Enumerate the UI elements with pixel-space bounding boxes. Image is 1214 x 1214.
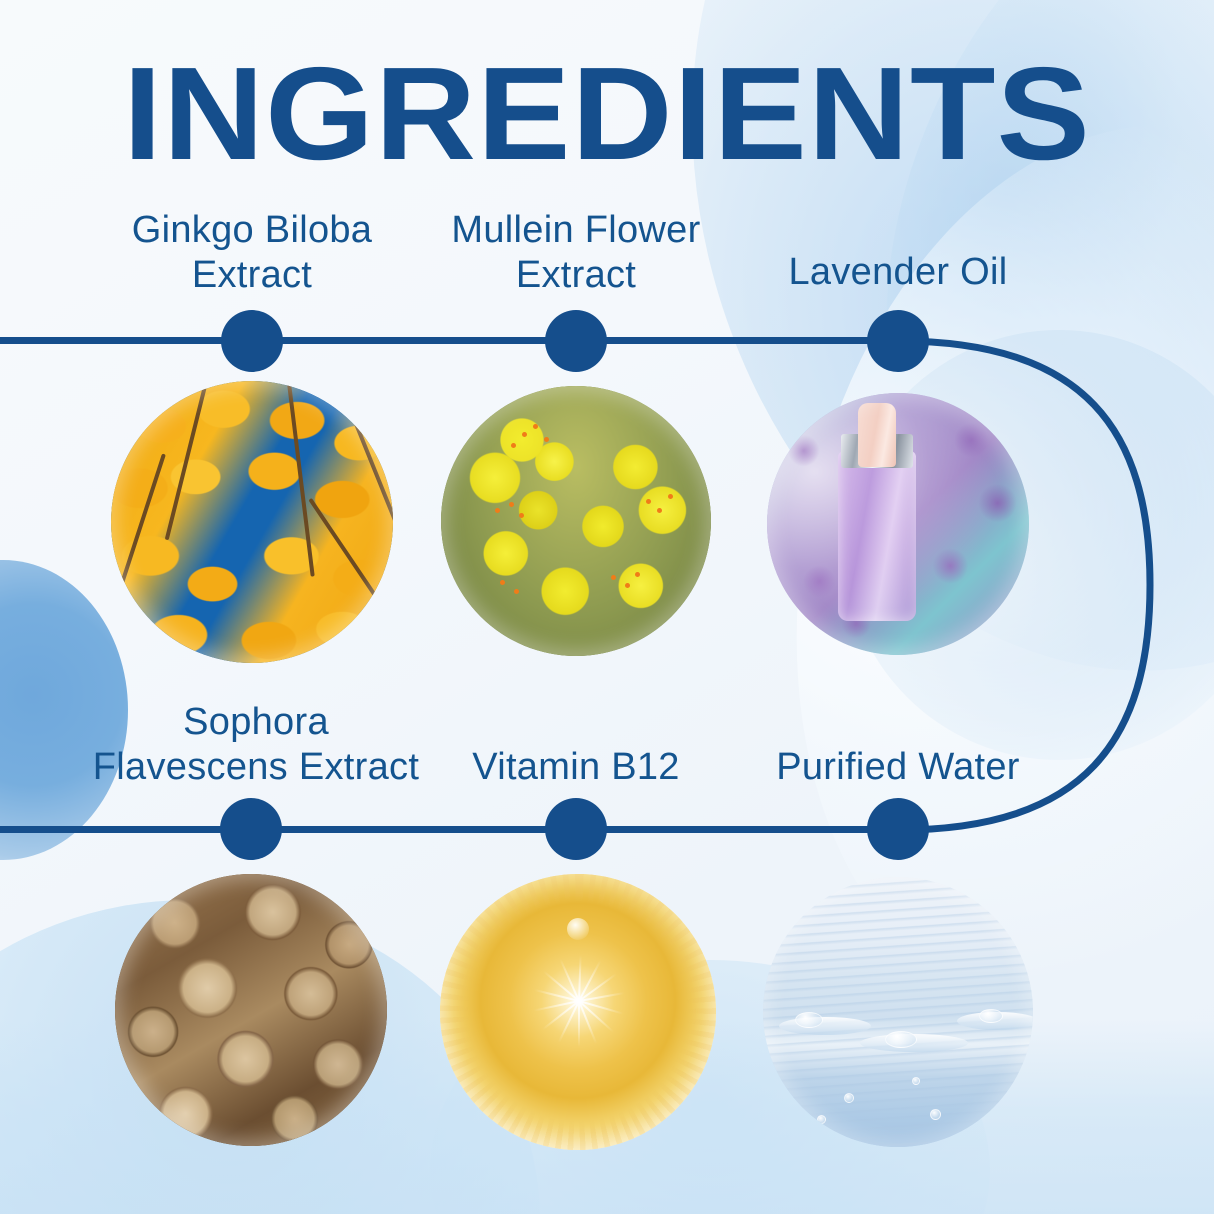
timeline-dot-purified-water[interactable]	[867, 798, 929, 860]
label-lavender-oil: Lavender Oil	[738, 250, 1058, 295]
timeline-dot-mullein-flower-extract[interactable]	[545, 310, 607, 372]
label-purified-water: Purified Water	[728, 745, 1068, 790]
photo-golden-serum-drop	[440, 874, 716, 1150]
label-ginkgo-biloba-extract: Ginkgo Biloba Extract	[87, 208, 417, 298]
label-vitamin-b12: Vitamin B12	[411, 745, 741, 790]
photo-mullein-flower	[441, 386, 711, 656]
photo-sophora-root-slices	[115, 874, 387, 1146]
label-mullein-flower-extract: Mullein Flower Extract	[411, 208, 741, 298]
timeline-dot-vitamin-b12[interactable]	[545, 798, 607, 860]
ingredients-poster: INGREDIENTS Ginkgo Biloba Extract Mullei…	[0, 0, 1214, 1214]
timeline-dot-lavender-oil[interactable]	[867, 310, 929, 372]
photo-lavender-oil-bottle	[767, 393, 1029, 655]
page-title: INGREDIENTS	[0, 48, 1214, 180]
photo-ginkgo-leaves	[111, 381, 393, 663]
photo-water-surface	[763, 877, 1033, 1147]
label-sophora-flavescens-extract: Sophora Flavescens Extract	[56, 700, 456, 790]
timeline-rail-top	[0, 337, 920, 344]
timeline-rail-bottom	[0, 826, 920, 833]
timeline-dot-ginkgo-biloba-extract[interactable]	[221, 310, 283, 372]
timeline-dot-sophora-flavescens-extract[interactable]	[220, 798, 282, 860]
